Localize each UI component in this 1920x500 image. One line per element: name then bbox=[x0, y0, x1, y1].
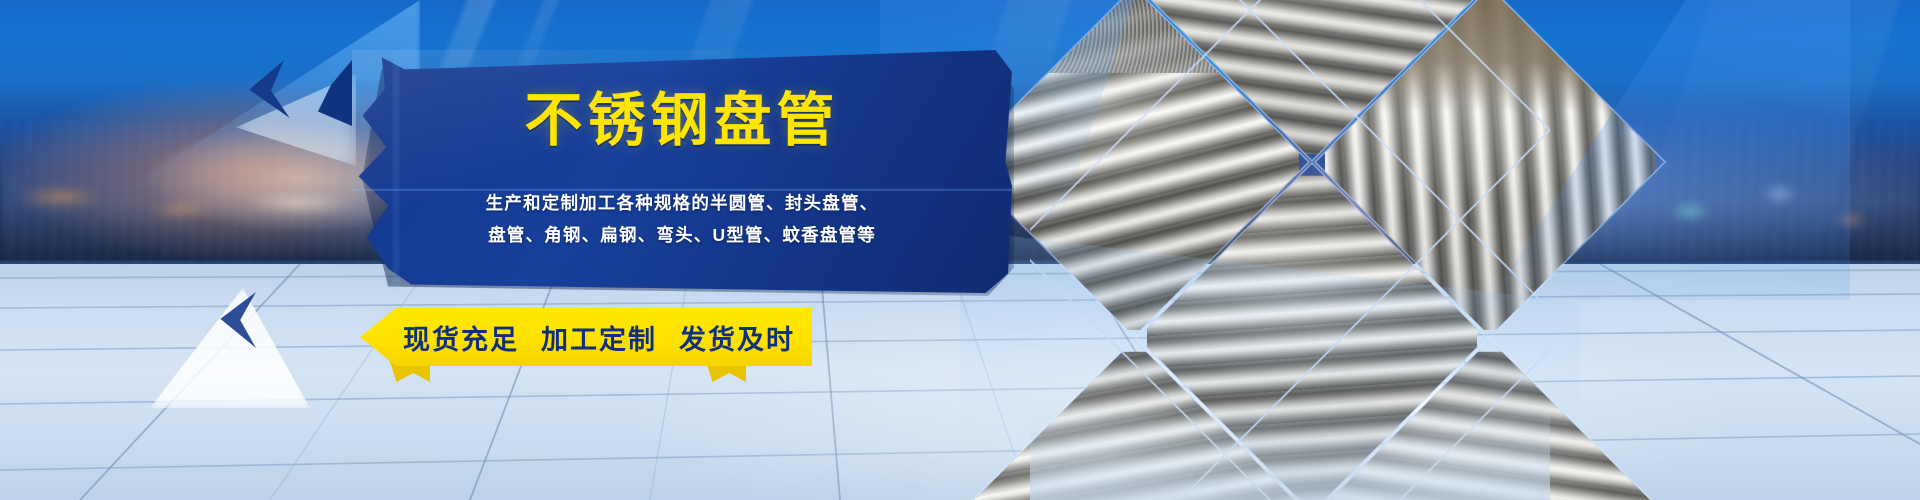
product-photo-collage bbox=[1030, 0, 1550, 500]
ribbon-item-stock: 现货充足 bbox=[403, 318, 519, 357]
ribbon-item-shipping: 发货及时 bbox=[679, 318, 795, 357]
subtitle-line-2: 盘管、角钢、扁钢、弯头、U型管、蚊香盘管等 bbox=[352, 222, 1012, 247]
promo-banner: 不锈钢盘管 生产和定制加工各种规格的半圆管、封头盘管、 盘管、角钢、扁钢、弯头、… bbox=[0, 0, 1920, 500]
page-title: 不锈钢盘管 bbox=[352, 92, 1012, 150]
panel-text-group: 不锈钢盘管 生产和定制加工各种规格的半圆管、封头盘管、 盘管、角钢、扁钢、弯头、… bbox=[352, 50, 1012, 293]
ribbon-item-custom: 加工定制 bbox=[541, 318, 657, 357]
ribbon-text-group: 现货充足 加工定制 发货及时 bbox=[360, 308, 812, 366]
subtitle-line-1: 生产和定制加工各种规格的半圆管、封头盘管、 bbox=[352, 190, 1012, 215]
feature-ribbon: 现货充足 加工定制 发货及时 bbox=[350, 300, 820, 378]
headline-panel: 不锈钢盘管 生产和定制加工各种规格的半圆管、封头盘管、 盘管、角钢、扁钢、弯头、… bbox=[352, 50, 1024, 302]
